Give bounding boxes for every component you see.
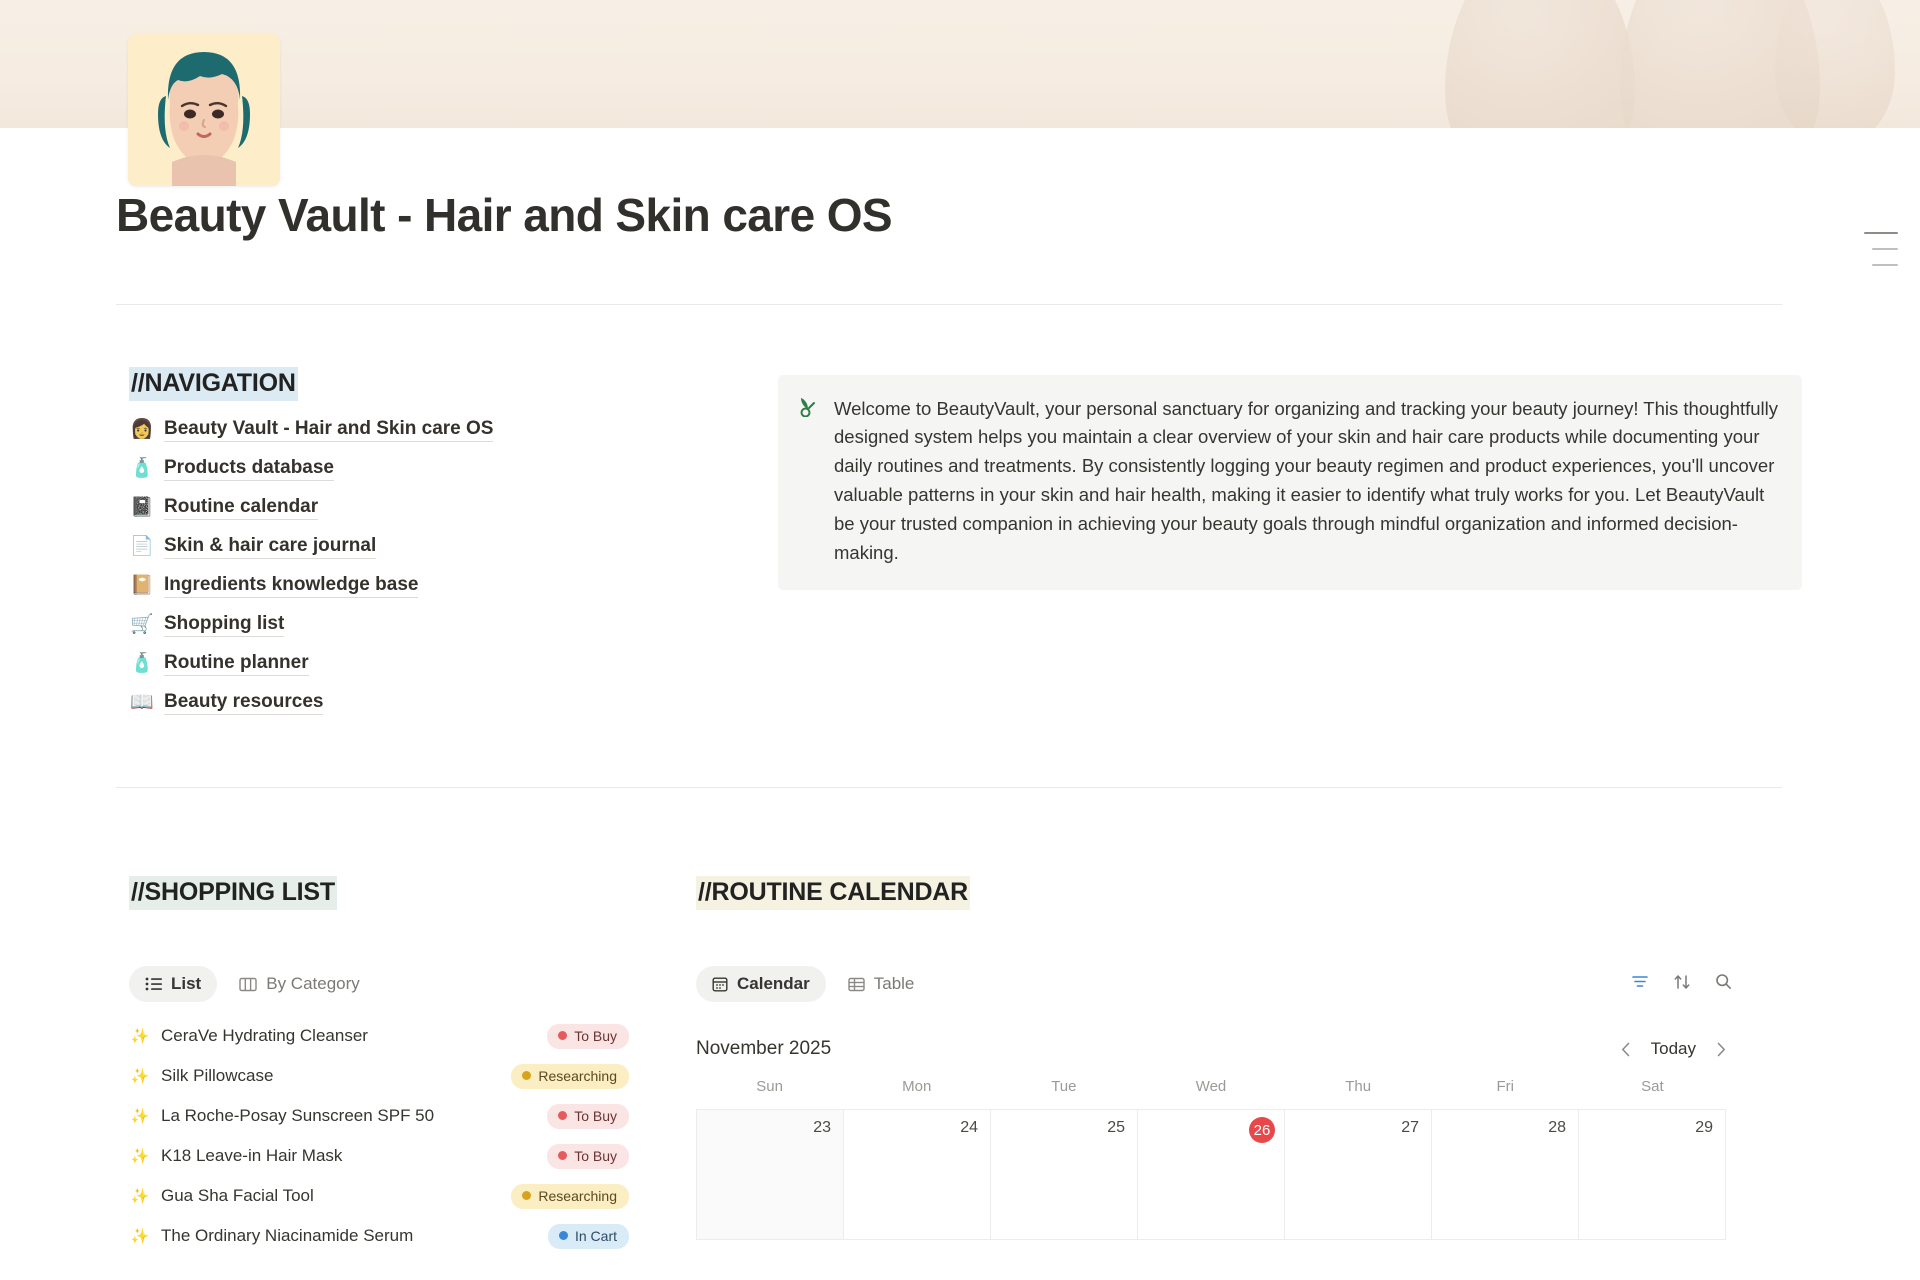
navigation-and-welcome-row: //NAVIGATION 👩 Beauty Vault - Hair and S… [116,367,1804,723]
shopping-list-column: //SHOPPING LIST List [116,876,696,1256]
sidebar-item-label: Routine planner [164,652,309,676]
list-item-name: K18 Leave-in Hair Mask [161,1146,537,1166]
welcome-text: Welcome to BeautyVault, your personal sa… [834,395,1780,568]
shopping-list-view-tabs: List By Category [129,966,696,1002]
status-badge[interactable]: To Buy [547,1104,629,1129]
calendar-cell[interactable]: 28 [1432,1110,1579,1240]
calendar-view-icon [712,976,728,992]
sidebar-item-beauty-resources[interactable]: 📖 Beauty resources [129,684,778,723]
table-of-contents-rail[interactable] [1862,232,1898,266]
chevron-right-icon[interactable] [1710,1038,1732,1060]
status-dot [522,1191,531,1200]
day-name-thu: Thu [1285,1078,1432,1095]
calendar-grid: Sun Mon Tue Wed Thu Fri Sat 23 24 [696,1078,1726,1240]
calendar-toolbar: Calendar Table [696,966,1804,1002]
navigation-column: //NAVIGATION 👩 Beauty Vault - Hair and S… [116,367,778,723]
tab-list-view-label: List [171,974,201,994]
status-badge[interactable]: In Cart [548,1224,629,1249]
status-badge[interactable]: To Buy [547,1024,629,1049]
page-link-icon: 📔 [129,573,155,599]
calendar-day-number: 25 [1107,1119,1125,1137]
calendar-view-tabs: Calendar Table [696,966,930,1002]
sidebar-item-routine-calendar[interactable]: 📓 Routine calendar [129,489,778,528]
list-item-name: Silk Pillowcase [161,1066,501,1086]
sidebar-item-skin-hair-journal[interactable]: 📄 Skin & hair care journal [129,528,778,567]
sparkles-icon: ✨ [129,1147,151,1165]
sparkles-icon: ✨ [129,1187,151,1205]
calendar-toolbar-actions [1631,973,1804,995]
calendar-cell-today[interactable]: 26 [1138,1110,1285,1240]
calendar-day-number: 29 [1695,1119,1713,1137]
list-item[interactable]: ✨ CeraVe Hydrating Cleanser To Buy [129,1016,629,1056]
status-dot [559,1231,568,1240]
welcome-callout: Welcome to BeautyVault, your personal sa… [778,375,1802,590]
page-content: Beauty Vault - Hair and Skin care OS //N… [0,190,1920,1256]
calendar-cell[interactable]: 23 [697,1110,844,1240]
page-link-icon: 📄 [129,534,155,560]
list-item[interactable]: ✨ La Roche-Posay Sunscreen SPF 50 To Buy [129,1096,629,1136]
list-item-name: Gua Sha Facial Tool [161,1186,501,1206]
cover-decoration-3 [1775,0,1895,128]
calendar-day-number: 23 [813,1119,831,1137]
sidebar-item-products-database[interactable]: 🧴 Products database [129,450,778,489]
page-cover-banner [0,0,1920,128]
status-dot [558,1151,567,1160]
sprout-icon [798,395,822,568]
day-name-sun: Sun [696,1078,843,1095]
tab-by-category-label: By Category [266,974,360,994]
calendar-month-label: November 2025 [696,1038,831,1060]
status-badge[interactable]: Researching [511,1184,629,1209]
toc-mark-3[interactable] [1872,264,1898,266]
sort-icon[interactable] [1673,974,1691,995]
tab-calendar-label: Calendar [737,974,810,994]
today-button[interactable]: Today [1651,1039,1696,1059]
shopping-and-calendar-row: //SHOPPING LIST List [116,876,1804,1256]
list-item-name: La Roche-Posay Sunscreen SPF 50 [161,1106,537,1126]
sidebar-item-label: Beauty resources [164,691,323,715]
sidebar-item-label: Shopping list [164,613,284,637]
calendar-cell[interactable]: 25 [991,1110,1138,1240]
calendar-day-names: Sun Mon Tue Wed Thu Fri Sat [696,1078,1726,1109]
woman-portrait-icon [128,34,280,186]
navigation-list: 👩 Beauty Vault - Hair and Skin care OS 🧴… [129,411,778,723]
sparkles-icon: ✨ [129,1027,151,1045]
sidebar-item-label: Ingredients knowledge base [164,574,418,598]
status-dot [558,1031,567,1040]
page-link-icon: 🧴 [129,651,155,677]
page-link-icon: 🛒 [129,612,155,638]
divider-top [116,304,1782,305]
page-link-icon: 👩 [129,417,155,443]
calendar-cell[interactable]: 24 [844,1110,991,1240]
shopping-list-heading: //SHOPPING LIST [129,876,337,910]
calendar-cell[interactable]: 29 [1579,1110,1726,1240]
routine-calendar-heading: //ROUTINE CALENDAR [696,876,970,910]
filter-icon[interactable] [1631,974,1649,994]
chevron-left-icon[interactable] [1615,1038,1637,1060]
cover-decoration-1 [1445,0,1635,128]
sparkles-icon: ✨ [129,1067,151,1085]
calendar-day-number: 24 [960,1119,978,1137]
list-item[interactable]: ✨ The Ordinary Niacinamide Serum In Cart [129,1216,629,1256]
welcome-column: Welcome to BeautyVault, your personal sa… [778,367,1804,723]
calendar-day-number: 28 [1548,1119,1566,1137]
sparkles-icon: ✨ [129,1107,151,1125]
list-item-name: The Ordinary Niacinamide Serum [161,1226,538,1246]
shopping-list-items: ✨ CeraVe Hydrating Cleanser To Buy ✨ Sil… [129,1016,629,1256]
search-icon[interactable] [1715,973,1732,995]
page-title: Beauty Vault - Hair and Skin care OS [116,190,1804,242]
calendar-navigation: Today [1615,1038,1732,1060]
tab-table-view[interactable]: Table [832,966,931,1002]
toc-mark-2[interactable] [1872,248,1898,250]
list-item-name: CeraVe Hydrating Cleanser [161,1026,537,1046]
sidebar-item-routine-planner[interactable]: 🧴 Routine planner [129,645,778,684]
sparkles-icon: ✨ [129,1227,151,1245]
status-badge-label: Researching [538,1068,617,1084]
day-name-fri: Fri [1432,1078,1579,1095]
sidebar-item-label: Skin & hair care journal [164,535,376,559]
day-name-wed: Wed [1137,1078,1284,1095]
status-badge-label: To Buy [574,1148,617,1164]
calendar-day-number-today: 26 [1249,1117,1275,1143]
status-badge-label: To Buy [574,1028,617,1044]
sidebar-item-label: Routine calendar [164,496,318,520]
routine-calendar-column: //ROUTINE CALENDAR Calendar [696,876,1804,1256]
status-badge[interactable]: Researching [511,1064,629,1089]
list-item[interactable]: ✨ K18 Leave-in Hair Mask To Buy [129,1136,629,1176]
status-dot [558,1111,567,1120]
page-link-icon: 🧴 [129,456,155,482]
list-view-icon [145,977,162,991]
status-badge-label: In Cart [575,1228,617,1244]
sidebar-item-beauty-vault[interactable]: 👩 Beauty Vault - Hair and Skin care OS [129,411,778,450]
toc-mark-1[interactable] [1864,232,1898,234]
tab-table-label: Table [874,974,915,994]
status-dot [522,1071,531,1080]
list-item[interactable]: ✨ Silk Pillowcase Researching [129,1056,629,1096]
navigation-heading: //NAVIGATION [129,367,298,401]
day-name-tue: Tue [990,1078,1137,1095]
calendar-week-row: 23 24 25 26 27 28 [696,1109,1726,1240]
sidebar-item-label: Products database [164,457,334,481]
sidebar-item-shopping-list[interactable]: 🛒 Shopping list [129,606,778,645]
divider-bottom [116,787,1782,788]
sidebar-item-ingredients-knowledge-base[interactable]: 📔 Ingredients knowledge base [129,567,778,606]
table-view-icon [848,977,865,992]
day-name-sat: Sat [1579,1078,1726,1095]
tab-by-category-view[interactable]: By Category [223,966,376,1002]
calendar-day-number: 27 [1401,1119,1419,1137]
tab-list-view[interactable]: List [129,966,217,1002]
tab-calendar-view[interactable]: Calendar [696,966,826,1002]
status-badge[interactable]: To Buy [547,1144,629,1169]
sidebar-item-label: Beauty Vault - Hair and Skin care OS [164,418,493,442]
status-badge-label: Researching [538,1188,617,1204]
page-icon[interactable] [128,34,280,186]
page-link-icon: 📖 [129,690,155,716]
page-link-icon: 📓 [129,495,155,521]
day-name-mon: Mon [843,1078,990,1095]
board-view-icon [239,977,257,992]
list-item[interactable]: ✨ Gua Sha Facial Tool Researching [129,1176,629,1216]
calendar-header: November 2025 Today [696,1038,1804,1060]
calendar-cell[interactable]: 27 [1285,1110,1432,1240]
status-badge-label: To Buy [574,1108,617,1124]
